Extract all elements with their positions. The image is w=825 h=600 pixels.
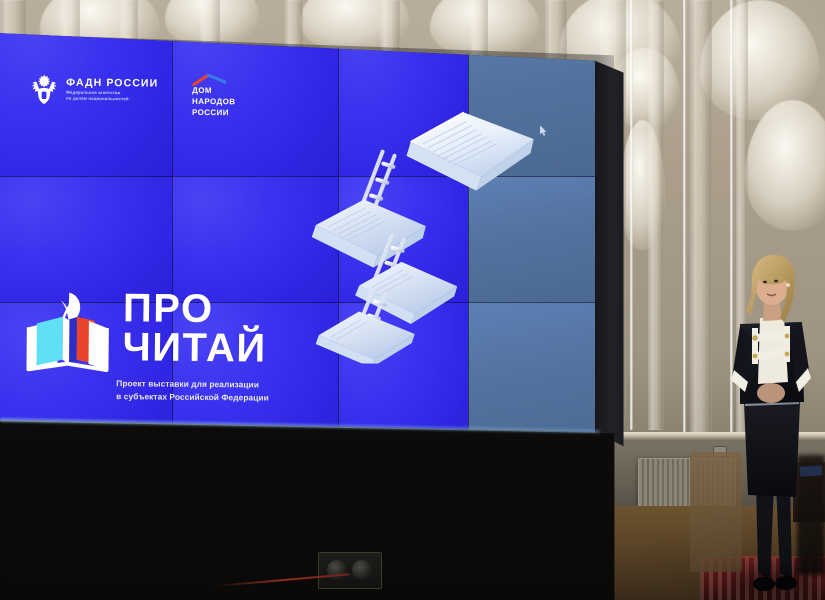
button <box>785 352 790 357</box>
russian-double-headed-eagle-icon <box>29 72 59 106</box>
brand-title-line1: ПРО <box>123 290 267 328</box>
person-floor-shadow <box>730 570 820 594</box>
jacket-trim <box>752 328 758 364</box>
earring <box>786 283 790 287</box>
wall-pilaster <box>690 0 712 440</box>
button <box>753 336 758 341</box>
button <box>785 334 790 339</box>
eye-right <box>774 280 778 283</box>
fadn-title: ФАДН РОССИИ <box>66 78 158 89</box>
slide-content: ФАДН РОССИИ Федеральное агентство по дел… <box>0 0 612 460</box>
video-wall-bezel <box>595 0 641 460</box>
wall-frame-line <box>683 0 686 440</box>
brand-title-line2: ЧИТАЙ <box>122 329 266 367</box>
dnr-line2: НАРОДОВ <box>192 97 236 108</box>
wall-pilaster <box>648 0 664 430</box>
house-roof-icon <box>192 74 226 86</box>
floating-book <box>406 112 534 191</box>
video-wall-screen[interactable]: ФАДН РОССИИ Федеральное агентство по дел… <box>0 0 612 460</box>
floating-book <box>311 199 426 268</box>
video-wall: ФАДН РОССИИ Федеральное агентство по дел… <box>0 0 640 600</box>
brand-subtitle-line1: Проект выставки для реализации <box>116 377 269 391</box>
button <box>753 354 758 359</box>
jacket-trim <box>784 326 790 362</box>
presenter <box>718 252 825 600</box>
fadn-logo: ФАДН РОССИИ Федеральное агентство по дел… <box>29 72 158 107</box>
slide-logo-row: ФАДН РОССИИ Федеральное агентство по дел… <box>29 72 236 118</box>
brand-title-block: ПРО ЧИТАЙ <box>24 285 267 377</box>
dnr-line3: РОССИИ <box>192 107 236 118</box>
screenshot-root: ФАДН РОССИИ Федеральное агентство по дел… <box>0 0 825 600</box>
brand-subtitle-line2: в субъектах Российской Федерации <box>116 390 269 404</box>
mouse-pointer-icon <box>540 125 547 136</box>
open-book-with-quill-icon <box>24 289 111 376</box>
floating-books-with-ladders <box>297 103 549 365</box>
eye-left <box>763 281 767 284</box>
brand-subtitle: Проект выставки для реализации в субъект… <box>116 377 269 404</box>
floating-book <box>315 311 415 365</box>
dnr-line1: ДОМ <box>192 86 236 97</box>
fadn-subtitle-line2: по делам национальностей <box>66 96 158 103</box>
loudspeaker-box-icon <box>318 552 382 589</box>
brand-wordmark: ПРО ЧИТАЙ <box>122 290 267 367</box>
dnr-logo: ДОМ НАРОДОВ РОССИИ <box>192 74 236 119</box>
skirt <box>744 402 800 497</box>
